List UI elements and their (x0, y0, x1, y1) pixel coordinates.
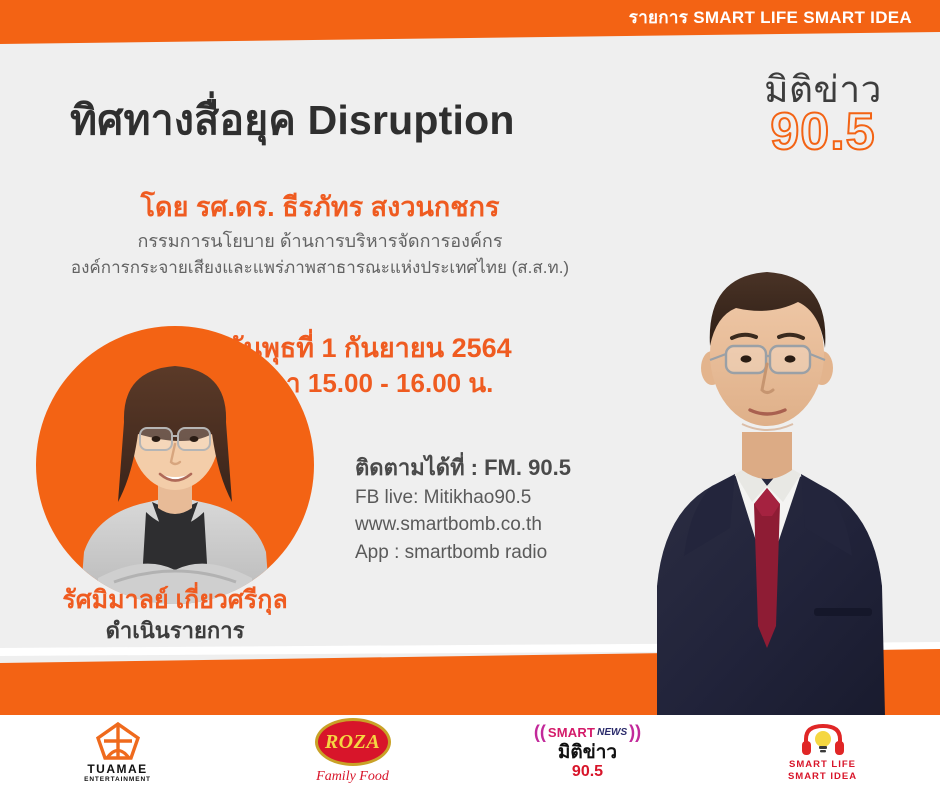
poster-canvas: รายการ SMART LIFE SMART IDEA มิติข่าว 90… (0, 0, 940, 788)
speaker-title-line1: กรรมการนโยบาย ด้านการบริหารจัดการองค์กร (0, 226, 640, 255)
tuamae-name: TUAMAE (87, 762, 147, 776)
program-banner-label: รายการ SMART LIFE SMART IDEA (629, 4, 912, 31)
contact-frequency: ติดตามได้ที่ : FM. 90.5 (355, 452, 571, 484)
speaker-byline: โดย รศ.ดร. ธีรภัทร สงวนกชกร (0, 185, 640, 228)
headphone-bulb-icon (798, 721, 848, 757)
signal-right-icon: )) (629, 722, 641, 743)
contact-block: ติดตามได้ที่ : FM. 90.5 FB live: Mitikha… (355, 452, 571, 567)
sponsor-strip: TUAMAE ENTERTAINMENT ROZA Family Food ((… (0, 715, 940, 788)
roza-name: ROZA (325, 731, 380, 754)
sponsor-tuamae: TUAMAE ENTERTAINMENT (0, 721, 235, 783)
tuamae-pentagon-icon (95, 721, 141, 761)
sponsor-roza: ROZA Family Food (235, 718, 470, 785)
smart-life-text: SMART LIFE SMART IDEA (788, 759, 857, 783)
speaker-title-line2: องค์การกระจายเสียงและแพร่ภาพสาธารณะแห่งป… (0, 254, 640, 281)
roza-tagline: Family Food (316, 769, 389, 785)
host-photo (36, 326, 314, 604)
station-frequency: 90.5 (728, 106, 918, 158)
signal-left-icon: (( (534, 722, 546, 743)
sponsor-smartnews: (( SMART NEWS )) มิติข่าว 90.5 (470, 722, 705, 781)
host-role: ดำเนินรายการ (10, 613, 340, 648)
smart-life-line1: SMART LIFE (788, 759, 857, 771)
contact-facebook[interactable]: FB live: Mitikhao90.5 (355, 484, 571, 512)
contact-website[interactable]: www.smartbomb.co.th (355, 511, 571, 539)
contact-app: App : smartbomb radio (355, 539, 571, 567)
page-title: ทิศทางสื่อยุค Disruption (70, 88, 515, 153)
smartnews-thai: มิติข่าว (558, 743, 617, 763)
guest-speaker-photo (602, 156, 932, 716)
smartnews-wordmark: (( SMART NEWS )) (534, 722, 641, 743)
host-illustration (36, 326, 314, 604)
smartnews-news: NEWS (597, 727, 627, 738)
tuamae-subtitle: ENTERTAINMENT (84, 776, 151, 783)
station-logo: มิติข่าว 90.5 (728, 72, 918, 158)
roza-badge: ROZA (315, 718, 391, 766)
smartnews-frequency: 90.5 (572, 763, 603, 781)
sponsor-smart-life-smart-idea: SMART LIFE SMART IDEA (705, 721, 940, 783)
smart-life-line2: SMART IDEA (788, 771, 857, 783)
guest-speaker-illustration (602, 156, 932, 716)
smartnews-smart: SMART (548, 725, 595, 740)
